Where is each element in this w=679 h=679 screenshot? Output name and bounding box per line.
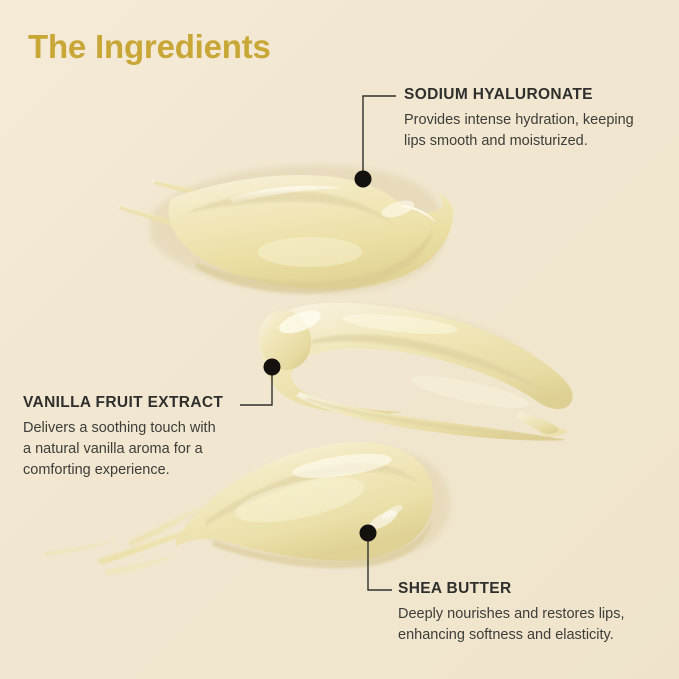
callout-description-vanilla-fruit-extract: Delivers a soothing touch with a natural… xyxy=(23,418,273,481)
marker-dot-shea-butter xyxy=(360,525,377,542)
callout-description-shea-butter: Deeply nourishes and restores lips, enha… xyxy=(398,604,664,646)
callout-description-sodium-hyaluronate: Provides intense hydration, keeping lips… xyxy=(404,110,666,152)
callout-shea-butter: SHEA BUTTER Deeply nourishes and restore… xyxy=(398,580,664,646)
callout-heading-sodium-hyaluronate: SODIUM HYALURONATE xyxy=(404,86,666,104)
callout-vanilla-fruit-extract: VANILLA FRUIT EXTRACT Delivers a soothin… xyxy=(23,394,273,481)
cream-swatch-swirl xyxy=(118,165,453,294)
cream-swatch-hook xyxy=(253,303,572,441)
callout-sodium-hyaluronate: SODIUM HYALURONATE Provides intense hydr… xyxy=(404,86,666,152)
callout-heading-vanilla-fruit-extract: VANILLA FRUIT EXTRACT xyxy=(23,394,273,412)
marker-dot-vanilla-fruit-extract xyxy=(264,359,281,376)
page-title: The Ingredients xyxy=(28,28,271,66)
marker-dot-sodium-hyaluronate xyxy=(355,171,372,188)
callout-heading-shea-butter: SHEA BUTTER xyxy=(398,580,664,598)
ingredients-infographic: The Ingredients SODIUM HYALURONATE Provi… xyxy=(0,0,679,679)
